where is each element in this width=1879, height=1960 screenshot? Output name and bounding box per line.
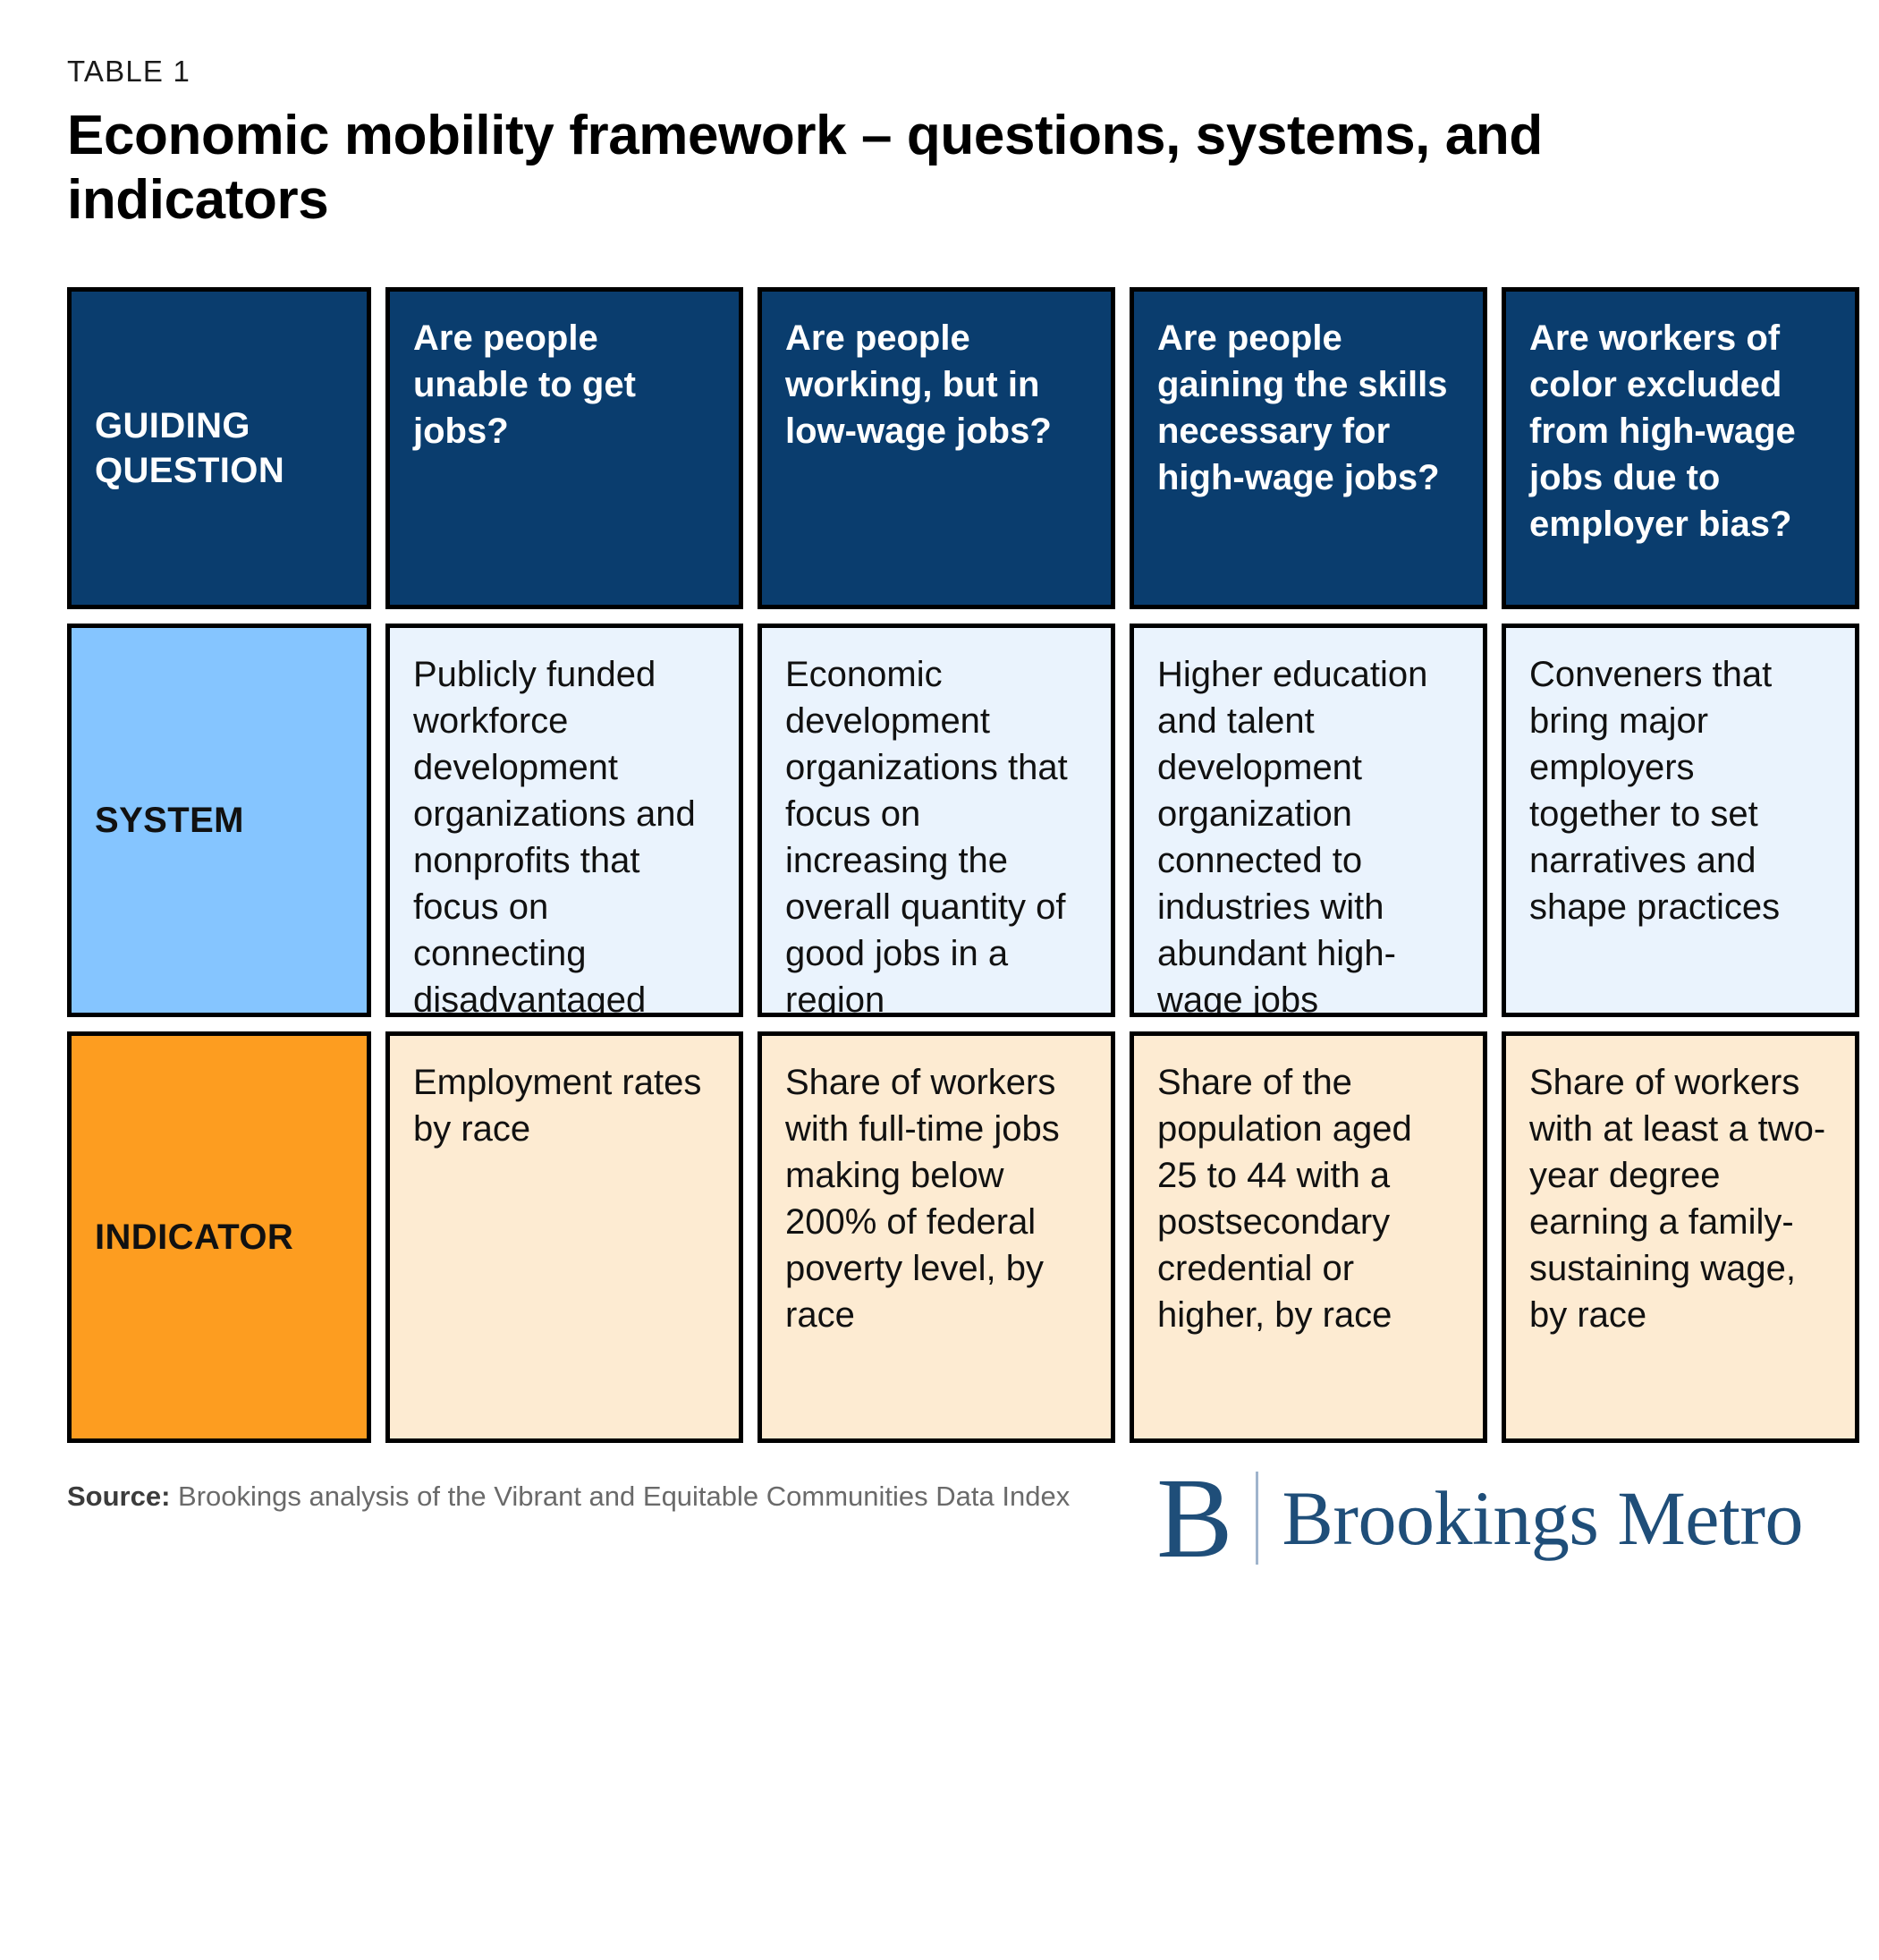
logo-divider [1256, 1472, 1258, 1565]
cell-system-2: Economic development organizations that … [758, 624, 1115, 1017]
cell-indicator-4: Share of workers with at least a two-yea… [1502, 1031, 1859, 1443]
source-note: Source: Brookings analysis of the Vibran… [67, 1473, 1070, 1516]
row-label-guiding-question: GUIDING QUESTION [67, 287, 371, 609]
cell-text: Economic development organizations that … [785, 655, 1068, 1017]
row-label-indicator: INDICATOR [67, 1031, 371, 1443]
row-label-text: INDICATOR [95, 1214, 293, 1260]
logo-wordmark: Brookings Metro [1282, 1480, 1803, 1557]
cell-text: Share of workers with at least a two-yea… [1529, 1063, 1825, 1335]
figure-container: TABLE 1 Economic mobility framework – qu… [0, 0, 1879, 1960]
cell-text: Are workers of color excluded from high-… [1529, 315, 1832, 547]
cell-text: Higher education and talent development … [1157, 655, 1427, 1017]
table-row-system: SYSTEM Publicly funded workforce develop… [67, 624, 1812, 1017]
cell-text: Publicly funded workforce development or… [413, 655, 696, 1017]
cell-indicator-3: Share of the population aged 25 to 44 wi… [1130, 1031, 1487, 1443]
row-label-text: GUIDING QUESTION [95, 403, 343, 493]
cell-guiding-question-3: Are people gaining the skills necessary … [1130, 287, 1487, 609]
cell-text: Conveners that bring major employers tog… [1529, 655, 1780, 927]
brookings-b-icon: B [1156, 1461, 1232, 1575]
figure-footer: Source: Brookings analysis of the Vibran… [67, 1473, 1812, 1575]
figure-eyebrow: TABLE 1 [67, 54, 1812, 89]
cell-indicator-1: Employment rates by race [385, 1031, 743, 1443]
cell-guiding-question-4: Are workers of color excluded from high-… [1502, 287, 1859, 609]
cell-text: Are people gaining the skills necessary … [1157, 315, 1460, 501]
table-row-guiding-question: GUIDING QUESTION Are people unable to ge… [67, 287, 1812, 609]
source-label: Source: [67, 1481, 170, 1512]
cell-indicator-2: Share of workers with full-time jobs mak… [758, 1031, 1115, 1443]
cell-text: Are people working, but in low-wage jobs… [785, 315, 1088, 454]
cell-text: Share of workers with full-time jobs mak… [785, 1063, 1060, 1335]
cell-guiding-question-1: Are people unable to get jobs? [385, 287, 743, 609]
cell-text: Share of the population aged 25 to 44 wi… [1157, 1063, 1412, 1335]
row-label-text: SYSTEM [95, 797, 244, 844]
row-label-system: SYSTEM [67, 624, 371, 1017]
table-row-indicator: INDICATOR Employment rates by race Share… [67, 1031, 1812, 1443]
source-text: Brookings analysis of the Vibrant and Eq… [170, 1481, 1070, 1512]
brookings-metro-logo: B Brookings Metro [1156, 1461, 1812, 1575]
cell-system-4: Conveners that bring major employers tog… [1502, 624, 1859, 1017]
page-title: Economic mobility framework – questions,… [67, 104, 1677, 233]
framework-table: GUIDING QUESTION Are people unable to ge… [67, 287, 1812, 1443]
cell-text: Are people unable to get jobs? [413, 315, 715, 454]
cell-system-1: Publicly funded workforce development or… [385, 624, 743, 1017]
cell-guiding-question-2: Are people working, but in low-wage jobs… [758, 287, 1115, 609]
cell-text: Employment rates by race [413, 1063, 701, 1149]
cell-system-3: Higher education and talent development … [1130, 624, 1487, 1017]
